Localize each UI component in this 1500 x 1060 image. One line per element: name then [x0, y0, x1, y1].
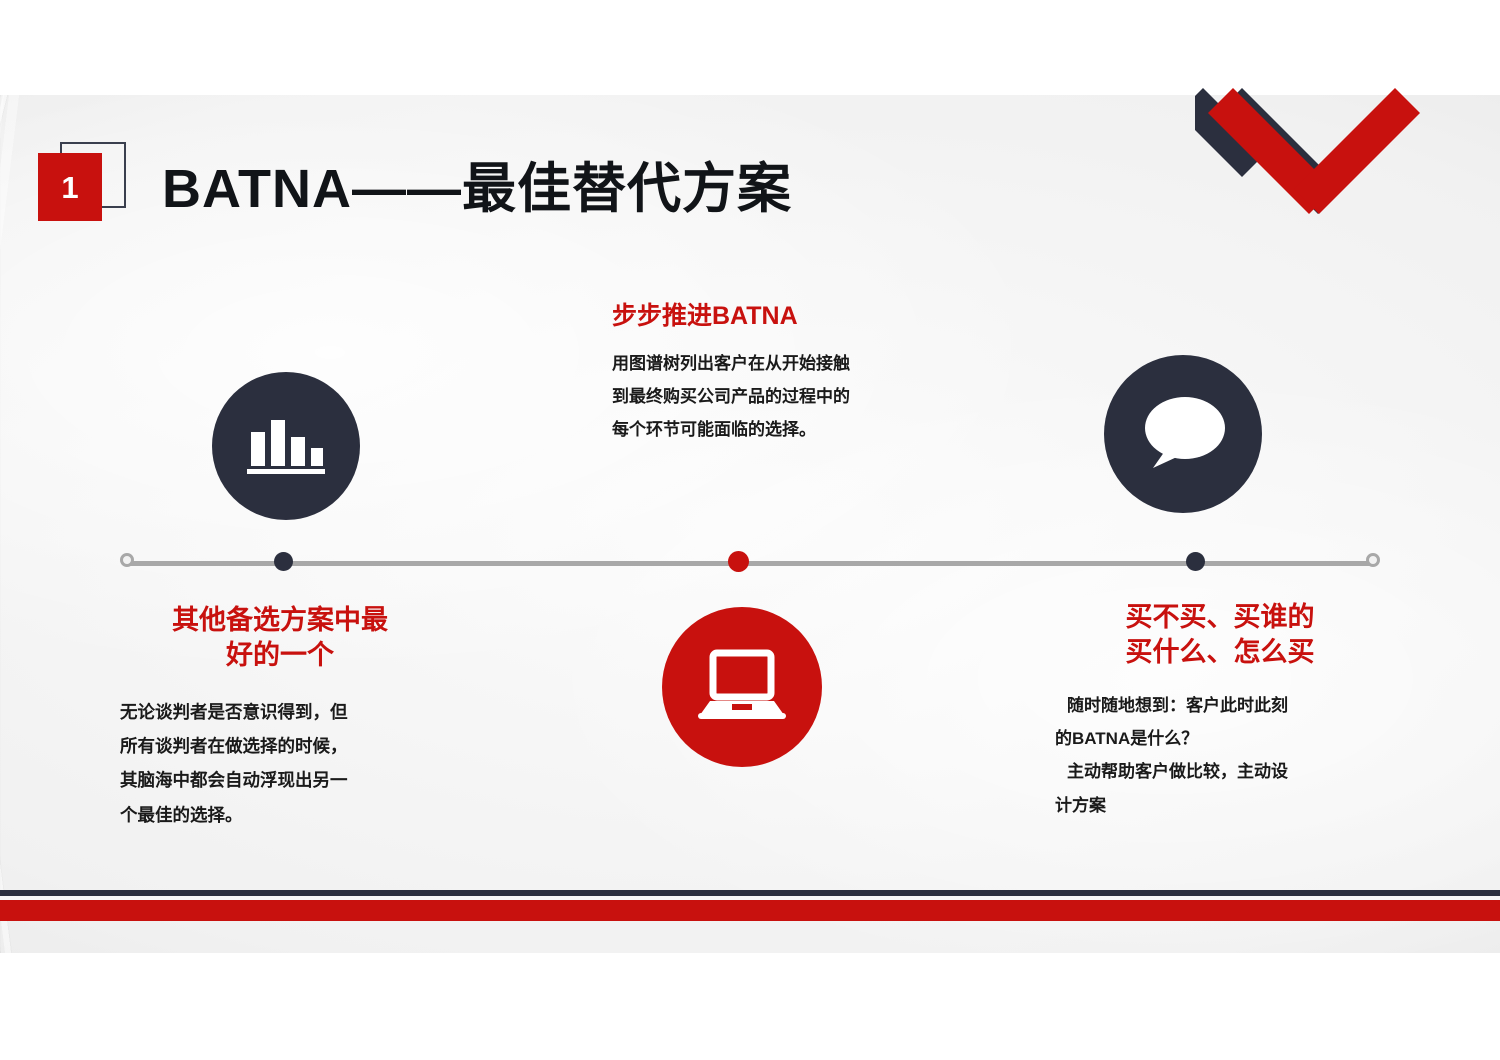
left-body: 无论谈判者是否意识得到，但 所有谈判者在做选择的时候， 其脑海中都会自动浮现出另…	[120, 695, 440, 832]
right-text-block: 买不买、买谁的 买什么、怎么买 随时随地想到：客户此时此刻 的BATNA是什么？…	[1055, 600, 1385, 822]
right-body-line: 主动帮助客户做比较，主动设	[1055, 755, 1385, 788]
slide-number-badge: 1	[38, 142, 116, 224]
slide-number-label: 1	[38, 153, 102, 221]
bar-chart-icon	[245, 412, 327, 480]
left-text-block: 其他备选方案中最 好的一个 无论谈判者是否意识得到，但 所有谈判者在做选择的时候…	[120, 603, 440, 832]
right-body-line: 的BATNA是什么？	[1055, 722, 1385, 755]
timeline-endpoint-left	[120, 553, 134, 567]
right-body-line: 随时随地想到：客户此时此刻	[1055, 689, 1385, 722]
right-heading-line: 买不买、买谁的	[1055, 600, 1385, 635]
timeline-endpoint-right	[1366, 553, 1380, 567]
chevron-decoration	[1195, 88, 1425, 223]
double-chevron-v-icon	[1195, 88, 1425, 223]
speech-bubble-icon	[1133, 392, 1233, 476]
timeline-node-2[interactable]	[728, 551, 749, 572]
timeline-node-1[interactable]	[274, 552, 293, 571]
center-body-line: 到最终购买公司产品的过程中的	[612, 380, 942, 413]
center-body-line: 用图谱树列出客户在从开始接触	[612, 347, 942, 380]
left-body-line: 个最佳的选择。	[120, 798, 440, 832]
left-body-line: 所有谈判者在做选择的时候，	[120, 729, 440, 763]
slide: 1 BATNA——最佳替代方案 步步推进BATNA	[0, 0, 1500, 1060]
center-body-line: 每个环节可能面临的选择。	[612, 413, 942, 446]
center-text-block: 步步推进BATNA 用图谱树列出客户在从开始接触 到最终购买公司产品的过程中的 …	[612, 300, 942, 446]
left-body-line: 其脑海中都会自动浮现出另一	[120, 763, 440, 797]
center-heading: 步步推进BATNA	[612, 300, 942, 333]
laptop-icon	[696, 649, 788, 725]
page-title: BATNA——最佳替代方案	[162, 144, 792, 223]
right-heading: 买不买、买谁的 买什么、怎么买	[1055, 600, 1385, 669]
left-heading-line: 好的一个	[120, 638, 440, 673]
right-heading-line: 买什么、怎么买	[1055, 635, 1385, 670]
left-heading: 其他备选方案中最 好的一个	[120, 603, 440, 673]
right-body: 随时随地想到：客户此时此刻 的BATNA是什么？ 主动帮助客户做比较，主动设 计…	[1055, 689, 1385, 822]
left-icon-circle	[212, 372, 360, 520]
left-body-line: 无论谈判者是否意识得到，但	[120, 695, 440, 729]
footer-rule-red	[0, 900, 1500, 921]
right-body-line: 计方案	[1055, 789, 1385, 822]
timeline-node-3[interactable]	[1186, 552, 1205, 571]
left-heading-line: 其他备选方案中最	[120, 603, 440, 638]
middle-icon-circle	[662, 607, 822, 767]
right-icon-circle	[1104, 355, 1262, 513]
center-body: 用图谱树列出客户在从开始接触 到最终购买公司产品的过程中的 每个环节可能面临的选…	[612, 347, 942, 446]
